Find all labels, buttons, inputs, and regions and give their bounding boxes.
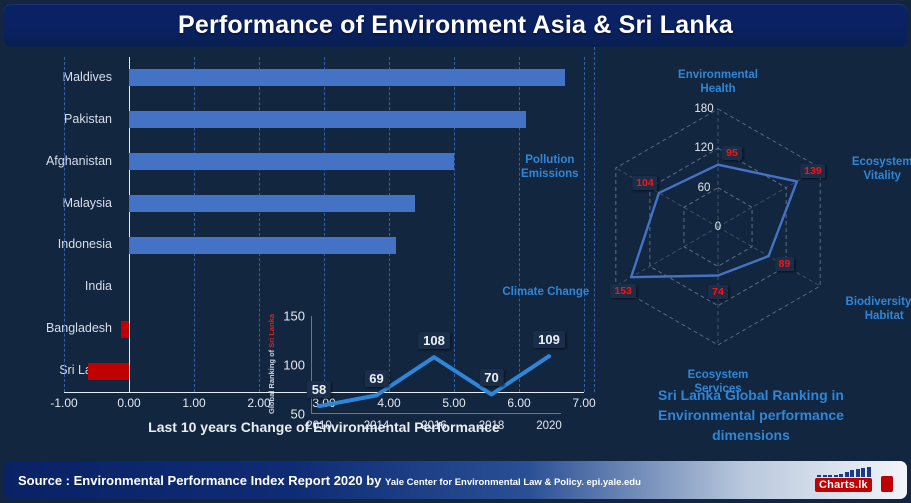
line-value-label: 69	[364, 370, 388, 387]
bar-malaysia	[129, 195, 415, 212]
bar-afghanistan	[129, 153, 454, 170]
bar-pakistan	[129, 111, 526, 128]
bar-x-tick: 0.00	[117, 396, 140, 410]
logo-bar	[839, 474, 843, 477]
logo-bar	[817, 475, 821, 477]
bar-indonesia	[129, 237, 396, 254]
line-value-label: 108	[418, 332, 450, 349]
line-chart-inset: Global Ranking of Sri Lanka 50100150 201…	[259, 312, 579, 437]
radar-ring-label: 0	[715, 221, 721, 233]
line-value-label: 70	[479, 369, 503, 386]
radar-ring-label: 120	[694, 142, 713, 154]
radar-axis-label: Environmental Health	[663, 68, 773, 96]
source-credit: Source : Environmental Performance Index…	[18, 473, 641, 488]
radar-caption-line: Environmental performance	[610, 405, 892, 425]
line-y-tick-labels: 50100150	[265, 312, 305, 417]
radar-axis-label: Biodiversity & Habitat	[834, 295, 911, 323]
radar-value-badge: 74	[708, 285, 728, 299]
radar-axis-label: Ecosystem Vitality	[834, 155, 911, 183]
header-banner: Performance of Environment Asia & Sri La…	[4, 4, 907, 47]
line-x-tick: 2014	[364, 420, 390, 432]
chart-body: MaldivesPakistanAfghanistanMalaysiaIndon…	[4, 47, 907, 457]
line-y-axis-line	[311, 316, 312, 414]
line-x-axis-line	[311, 413, 561, 414]
radar-value-badge: 95	[722, 146, 742, 160]
radar-ring-label: 60	[698, 182, 711, 194]
source-credit-main: Source : Environmental Performance Index…	[18, 473, 385, 488]
radar-ring-label: 180	[694, 103, 713, 115]
radar-axis-label: Climate Change	[491, 285, 601, 299]
line-plot-area	[311, 316, 561, 414]
radar-chart-panel: Environmental HealthEcosystem VitalityBi…	[594, 47, 907, 457]
bar-gridline	[64, 57, 65, 392]
bar-sri-lanka	[88, 363, 129, 380]
bar-zero-axis	[129, 57, 130, 392]
logo-bar-icon	[817, 467, 871, 477]
bar-x-tick: -1.00	[50, 396, 77, 410]
line-y-tick: 50	[291, 407, 305, 422]
bar-bangladesh	[121, 321, 129, 338]
bar-maldives	[129, 69, 565, 86]
radar-value-badge: 89	[775, 257, 795, 271]
bar-chart-panel: MaldivesPakistanAfghanistanMalaysiaIndon…	[4, 47, 594, 457]
line-series-path	[319, 356, 549, 406]
logo-bar	[834, 475, 838, 477]
bar-gridline	[194, 57, 195, 392]
page-title: Performance of Environment Asia & Sri La…	[178, 11, 733, 40]
line-x-tick: 2016	[421, 420, 447, 432]
radar-axis-label: Pollution Emissions	[500, 153, 600, 181]
logo-hand-icon	[881, 476, 893, 492]
bar-x-tick: 1.00	[182, 396, 205, 410]
logo-bar	[828, 475, 832, 477]
footer-bar: Source : Environmental Performance Index…	[4, 461, 907, 499]
source-credit-sub: Yale Center for Environmental Law & Poli…	[385, 477, 641, 488]
radar-svg	[594, 47, 907, 377]
line-y-tick: 150	[283, 309, 305, 324]
bar-gridline	[584, 57, 585, 392]
charts-lk-logo[interactable]: Charts.lk	[815, 467, 893, 494]
radar-value-badge: 104	[632, 176, 658, 190]
line-y-tick: 100	[283, 358, 305, 373]
logo-bar	[856, 469, 860, 477]
line-x-tick: 2020	[536, 420, 562, 432]
radar-value-badge: 139	[800, 164, 826, 178]
line-value-label: 58	[307, 381, 331, 398]
line-value-label: 109	[533, 331, 565, 348]
radar-caption: Sri Lanka Global Ranking inEnvironmental…	[610, 385, 892, 445]
radar-spoke	[616, 168, 718, 227]
logo-bar	[861, 468, 865, 477]
logo-bar	[823, 475, 827, 477]
radar-caption-line: Sri Lanka Global Ranking in	[610, 385, 892, 405]
radar-caption-line: dimensions	[610, 425, 892, 445]
line-x-tick: 2018	[479, 420, 505, 432]
infographic-canvas: Performance of Environment Asia & Sri La…	[0, 0, 911, 503]
radar-value-badge: 153	[610, 284, 636, 298]
line-x-tick: 2010	[306, 420, 332, 432]
logo-bar	[845, 472, 849, 477]
logo-bar	[850, 470, 854, 477]
logo-wordmark: Charts.lk	[815, 478, 872, 492]
line-series-svg	[311, 316, 561, 414]
logo-bar	[867, 467, 871, 477]
